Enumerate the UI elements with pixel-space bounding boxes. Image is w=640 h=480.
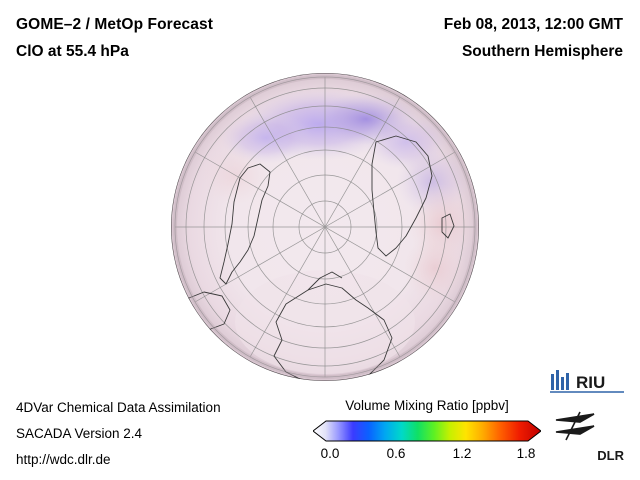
colorbar-tick-3: 1.8 <box>517 446 536 461</box>
colorbar-tick-2: 1.2 <box>453 446 472 461</box>
footer-line-url[interactable]: http://wdc.dlr.de <box>16 452 111 467</box>
colorbar-gradient <box>313 420 541 442</box>
footer-line-version: SACADA Version 2.4 <box>16 426 142 441</box>
globe-map <box>170 72 480 382</box>
title-instrument: GOME–2 / MetOp Forecast <box>16 16 213 34</box>
svg-text:RIU: RIU <box>576 373 605 392</box>
title-region: Southern Hemisphere <box>462 43 623 61</box>
globe-disc <box>170 72 480 382</box>
colorbar-tick-0: 0.0 <box>321 446 340 461</box>
title-species: ClO at 55.4 hPa <box>16 43 129 61</box>
colorbar-tick-1: 0.6 <box>387 446 406 461</box>
colorbar-title: Volume Mixing Ratio [ppbv] <box>313 398 541 413</box>
riu-logo: RIU <box>550 368 624 394</box>
footer-line-assimilation: 4DVar Chemical Data Assimilation <box>16 400 221 415</box>
colorbar-tick-labels: 0.0 0.6 1.2 1.8 <box>313 446 541 464</box>
title-datetime: Feb 08, 2013, 12:00 GMT <box>444 16 623 34</box>
dlr-label: DLR <box>597 448 624 463</box>
